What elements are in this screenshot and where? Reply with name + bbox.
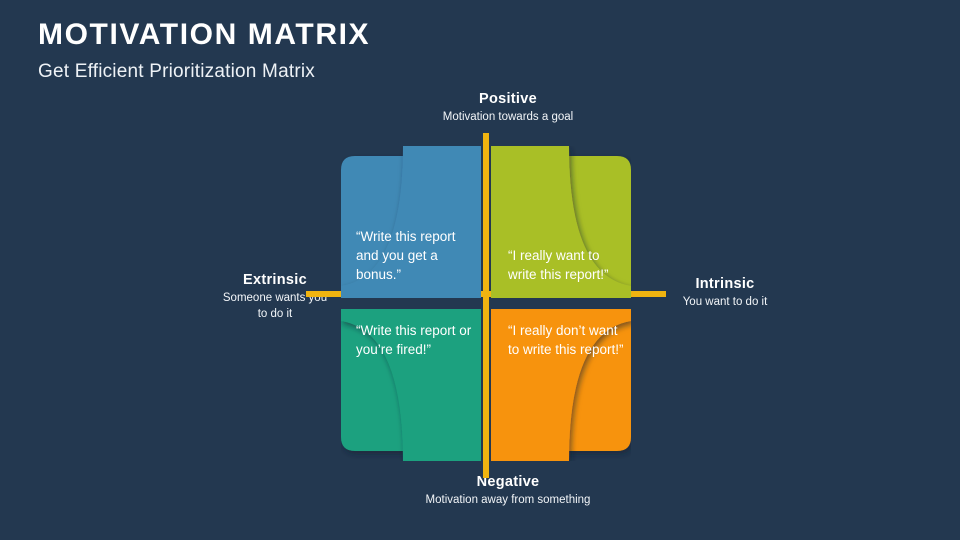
axis-title-top: Positive: [378, 90, 638, 108]
quadrant-bottom-left-quote: “Write this report or you’re fired!”: [356, 321, 472, 359]
page-title: MOTIVATION MATRIX: [38, 18, 370, 52]
quadrant-grid: “Write this report and you get a bonus.”…: [341, 146, 631, 461]
axis-desc-bottom: Motivation away from something: [378, 493, 638, 509]
page-subtitle: Get Efficient Prioritization Matrix: [38, 61, 370, 83]
quadrant-top-left-quote: “Write this report and you get a bonus.”: [356, 227, 472, 284]
quadrant-top-left[interactable]: “Write this report and you get a bonus.”: [341, 146, 481, 298]
quadrant-top-right-quote: “I really want to write this report!”: [508, 246, 624, 284]
axis-desc-top: Motivation towards a goal: [378, 110, 638, 126]
slide-header: MOTIVATION MATRIX Get Efficient Prioriti…: [38, 18, 370, 83]
axis-label-negative: Negative Motivation away from something: [378, 473, 638, 509]
axis-title-bottom: Negative: [378, 473, 638, 491]
axis-label-positive: Positive Motivation towards a goal: [378, 90, 638, 126]
motivation-matrix: Positive Motivation towards a goal Negat…: [228, 88, 788, 528]
quadrant-bottom-right[interactable]: “I really don’t want to write this repor…: [491, 309, 631, 461]
quadrant-bottom-right-quote: “I really don’t want to write this repor…: [508, 321, 624, 359]
quadrant-bottom-left[interactable]: “Write this report or you’re fired!”: [341, 309, 481, 461]
axis-title-right: Intrinsic: [665, 275, 785, 293]
axis-label-intrinsic: Intrinsic You want to do it: [665, 275, 785, 311]
quadrant-top-right[interactable]: “I really want to write this report!”: [491, 146, 631, 298]
axis-title-left: Extrinsic: [220, 271, 330, 289]
axis-desc-right: You want to do it: [665, 295, 785, 311]
